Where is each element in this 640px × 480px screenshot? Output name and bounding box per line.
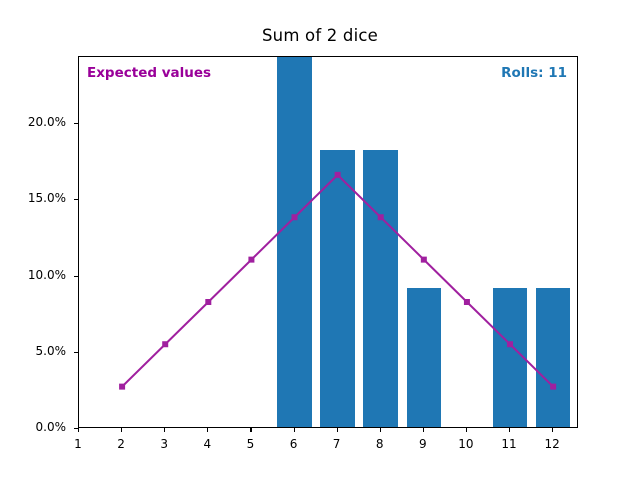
y-axis-tick-label: 20.0%: [0, 115, 66, 129]
expected-values-marker: [205, 299, 211, 305]
x-axis-tick: [552, 428, 553, 432]
expected-values-line: [79, 57, 578, 428]
expected-values-marker: [464, 299, 470, 305]
x-axis-tick: [423, 428, 424, 432]
expected-values-marker: [421, 257, 427, 263]
y-axis-tick-label: 10.0%: [0, 268, 66, 282]
x-axis-tick: [509, 428, 510, 432]
figure-canvas: Sum of 2 dice Expected values Rolls: 11 …: [0, 0, 640, 480]
x-axis-tick: [337, 428, 338, 432]
x-axis-tick-label: 6: [274, 437, 314, 451]
x-axis-tick-label: 5: [230, 437, 270, 451]
y-axis-tick: [74, 199, 78, 200]
x-axis-tick: [466, 428, 467, 432]
x-axis-tick: [207, 428, 208, 432]
x-axis-tick-label: 2: [101, 437, 141, 451]
expected-values-marker: [507, 341, 513, 347]
page-title: Sum of 2 dice: [0, 26, 640, 45]
x-axis-tick-label: 11: [489, 437, 529, 451]
x-axis-tick: [78, 428, 79, 432]
x-axis-tick-label: 8: [360, 437, 400, 451]
y-axis-tick: [74, 276, 78, 277]
expected-values-marker: [378, 214, 384, 220]
x-axis-tick: [250, 428, 251, 432]
x-axis-tick: [164, 428, 165, 432]
x-axis-tick: [121, 428, 122, 432]
expected-values-marker: [162, 341, 168, 347]
x-axis-tick-label: 1: [58, 437, 98, 451]
x-axis-tick-label: 4: [187, 437, 227, 451]
y-axis-tick-label: 0.0%: [0, 420, 66, 434]
x-axis-tick-label: 10: [446, 437, 486, 451]
expected-values-marker: [550, 384, 556, 390]
x-axis-tick: [380, 428, 381, 432]
y-axis-tick-label: 5.0%: [0, 344, 66, 358]
y-axis-tick-label: 15.0%: [0, 191, 66, 205]
x-axis-tick-label: 3: [144, 437, 184, 451]
expected-values-marker: [292, 214, 298, 220]
expected-values-marker: [248, 257, 254, 263]
x-axis-tick-label: 12: [532, 437, 572, 451]
expected-values-marker: [335, 172, 341, 178]
y-axis-tick: [74, 352, 78, 353]
x-axis-tick-label: 9: [403, 437, 443, 451]
x-axis-tick: [294, 428, 295, 432]
x-axis-tick-label: 7: [317, 437, 357, 451]
expected-values-polyline: [122, 175, 553, 387]
expected-values-marker: [119, 384, 125, 390]
y-axis-tick: [74, 123, 78, 124]
plot-area: Expected values Rolls: 11: [78, 56, 578, 428]
